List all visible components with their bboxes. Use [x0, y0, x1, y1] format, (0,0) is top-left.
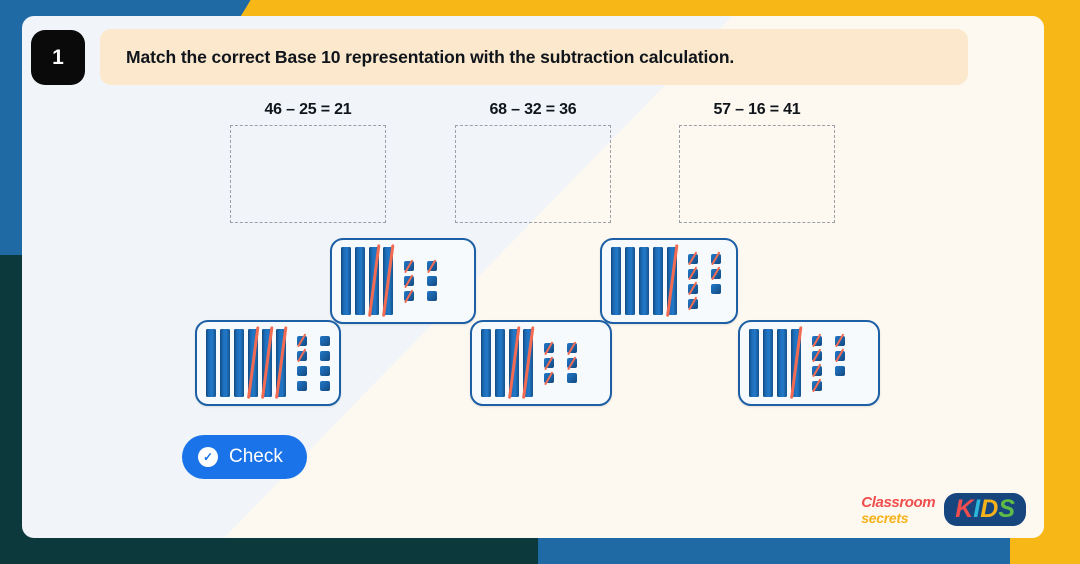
ones-cube-crossed: [404, 261, 414, 271]
brand-logo: Classroom secrets K I D S: [861, 493, 1026, 526]
check-circle-icon: ✓: [198, 447, 218, 467]
ones-cube-crossed: [688, 254, 698, 264]
tens-rod: [355, 247, 365, 315]
ones-cube: [320, 351, 330, 361]
question-prompt-text: Match the correct Base 10 representation…: [126, 47, 734, 68]
ones-cube-crossed: [688, 269, 698, 279]
base10-card[interactable]: [600, 238, 738, 324]
tens-rod: [220, 329, 230, 397]
logo-line-1: Classroom: [861, 495, 935, 510]
tens-rod-crossed: [791, 329, 801, 397]
ones-cube-crossed: [567, 343, 577, 353]
ones-cube: [320, 366, 330, 376]
ones-cube-crossed: [711, 269, 721, 279]
ones-cube-group: [297, 336, 330, 391]
tens-rod: [639, 247, 649, 315]
tens-rod-group: [341, 247, 393, 315]
check-button-label: Check: [229, 446, 283, 468]
tens-rod-crossed: [509, 329, 519, 397]
classroom-secrets-wordmark: Classroom secrets: [861, 495, 935, 525]
background-blue-bottom: [538, 536, 1018, 564]
ones-cube-crossed: [297, 351, 307, 361]
tens-rod-group: [481, 329, 533, 397]
tens-rod-crossed: [248, 329, 258, 397]
ones-cube-crossed: [711, 254, 721, 264]
ones-cube: [320, 381, 330, 391]
drop-zone-0: 46 – 25 = 21: [228, 101, 388, 223]
tens-rod-crossed: [262, 329, 272, 397]
ones-cube-group: [688, 254, 721, 309]
ones-cube-crossed: [688, 284, 698, 294]
equation-label-0: 46 – 25 = 21: [228, 101, 388, 119]
tens-rod-group: [611, 247, 677, 315]
ones-cube: [427, 291, 437, 301]
ones-cube-crossed: [404, 291, 414, 301]
tens-rod: [777, 329, 787, 397]
drop-slot-2[interactable]: [679, 125, 835, 223]
drop-slot-0[interactable]: [230, 125, 386, 223]
ones-cube-crossed: [544, 343, 554, 353]
tens-rod-crossed: [523, 329, 533, 397]
kids-letter-i: I: [973, 497, 980, 522]
ones-cube-crossed: [567, 358, 577, 368]
ones-cube-crossed: [812, 366, 822, 376]
tens-rod: [481, 329, 491, 397]
tens-rod-crossed: [369, 247, 379, 315]
tens-rod-group: [206, 329, 286, 397]
tens-rod-crossed: [276, 329, 286, 397]
ones-cube-crossed: [297, 336, 307, 346]
ones-cube-group: [544, 343, 577, 383]
activity-card: 1 Match the correct Base 10 representati…: [22, 16, 1044, 538]
logo-line-2: secrets: [861, 511, 935, 525]
ones-cube: [427, 276, 437, 286]
ones-cube-crossed: [544, 373, 554, 383]
ones-cube-crossed: [404, 276, 414, 286]
question-number-badge: 1: [31, 30, 85, 85]
kids-letter-d: D: [980, 497, 998, 522]
drop-zone-1: 68 – 32 = 36: [453, 101, 613, 223]
equation-label-1: 68 – 32 = 36: [453, 101, 613, 119]
kids-letter-s: S: [998, 497, 1015, 522]
tens-rod-group: [749, 329, 801, 397]
ones-cube-crossed: [835, 336, 845, 346]
tens-rod: [341, 247, 351, 315]
ones-cube-crossed: [427, 261, 437, 271]
ones-cube: [567, 373, 577, 383]
equation-label-2: 57 – 16 = 41: [677, 101, 837, 119]
check-button[interactable]: ✓ Check: [182, 435, 307, 479]
tens-rod-crossed: [667, 247, 677, 315]
tens-rod: [653, 247, 663, 315]
ones-cube: [297, 381, 307, 391]
ones-cube-crossed: [812, 381, 822, 391]
ones-cube-crossed: [835, 351, 845, 361]
ones-cube-group: [812, 336, 845, 391]
tens-rod: [763, 329, 773, 397]
tens-rod: [625, 247, 635, 315]
ones-cube: [320, 336, 330, 346]
base10-card[interactable]: [738, 320, 880, 406]
tens-rod: [749, 329, 759, 397]
base10-card[interactable]: [195, 320, 341, 406]
tens-rod: [495, 329, 505, 397]
ones-cube-crossed: [688, 299, 698, 309]
drop-zone-row: 46 – 25 = 21 68 – 32 = 36 57 – 16 = 41: [22, 101, 1044, 251]
kids-logo-badge: K I D S: [944, 493, 1026, 526]
ones-cube-crossed: [544, 358, 554, 368]
tens-rod-crossed: [383, 247, 393, 315]
base10-card[interactable]: [330, 238, 476, 324]
question-prompt-banner: Match the correct Base 10 representation…: [100, 29, 968, 85]
background-yellow-corner: [1010, 536, 1080, 564]
drop-zone-2: 57 – 16 = 41: [677, 101, 837, 223]
kids-letter-k: K: [955, 497, 973, 522]
ones-cube-group: [404, 261, 437, 301]
drop-slot-1[interactable]: [455, 125, 611, 223]
ones-cube-crossed: [812, 351, 822, 361]
base10-card[interactable]: [470, 320, 612, 406]
ones-cube: [297, 366, 307, 376]
tens-rod: [611, 247, 621, 315]
ones-cube: [711, 284, 721, 294]
tens-rod: [206, 329, 216, 397]
tens-rod: [234, 329, 244, 397]
ones-cube: [835, 366, 845, 376]
ones-cube-crossed: [812, 336, 822, 346]
